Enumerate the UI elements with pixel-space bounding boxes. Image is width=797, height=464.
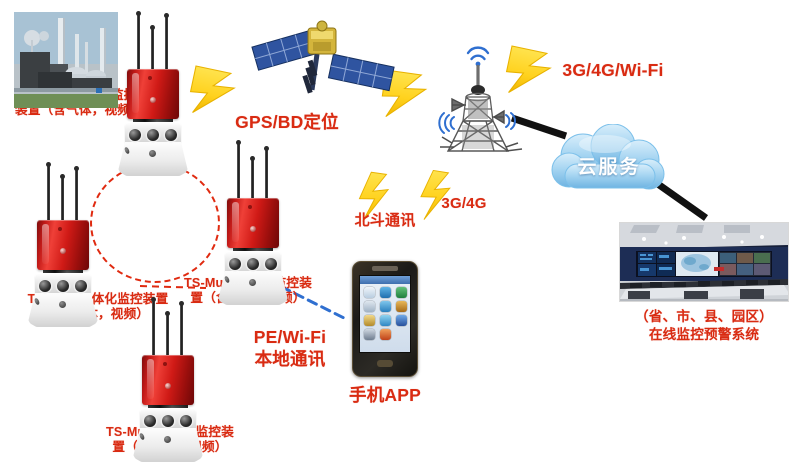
link-cellular-label: 3G/4G (431, 195, 497, 213)
mobile-app-device[interactable] (352, 261, 418, 377)
cloud-service[interactable]: 云服务 (543, 124, 675, 200)
link-gps-bd-label: GPS/BD定位 (222, 112, 352, 133)
diagram-canvas: TS-Multi一体化监控 装置（含气体，视频） TS-Multi一体化监控装置… (0, 0, 797, 464)
link-cellular-wifi-label: 3G/4G/Wi-Fi (545, 60, 681, 81)
control-room-photo (619, 222, 789, 302)
cell-tower (432, 25, 528, 155)
industrial-plant-photo (14, 12, 118, 108)
satellite (250, 12, 398, 98)
plant-circle-highlight (90, 163, 220, 283)
sensor-device-center[interactable] (210, 143, 296, 293)
control-room-label: （省、市、县、园区） 在线监控预警系统 (608, 308, 797, 343)
cloud-service-label: 云服务 (543, 152, 675, 179)
link-beidou-label: 北斗通讯 (345, 212, 425, 230)
link-local-comm-label: PE/Wi-Fi 本地通讯 (232, 327, 348, 371)
mobile-app-label: 手机APP (330, 385, 440, 406)
app-icon-grid[interactable] (364, 287, 409, 340)
